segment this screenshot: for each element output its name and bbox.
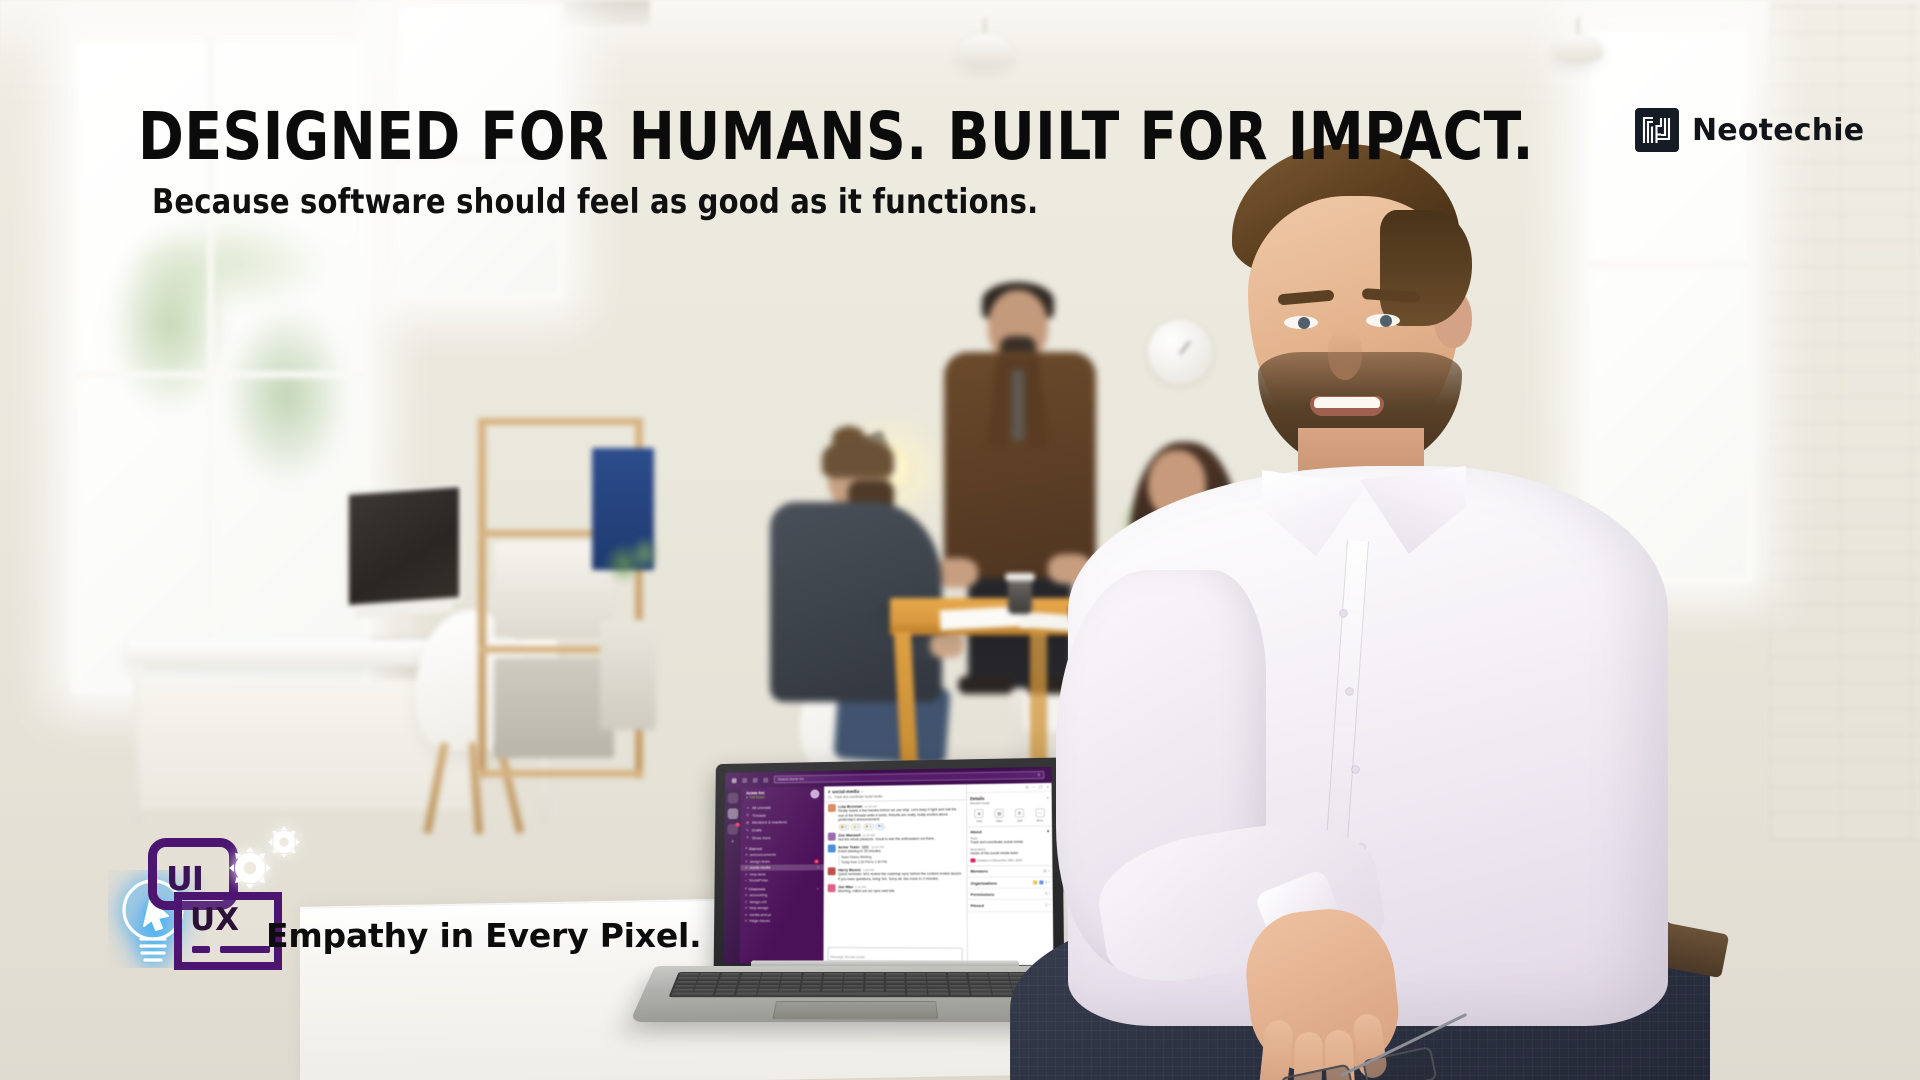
chevron-down-icon: ▾ (745, 846, 746, 850)
tagline: Empathy in Every Pixel. (266, 916, 702, 955)
unreads-icon: ≡ (746, 806, 750, 810)
composer-placeholder: Message #social-media (830, 955, 864, 959)
avatar[interactable] (828, 867, 836, 875)
hash-icon: # (745, 872, 747, 876)
message-item: Harry Boone 1:04 PM Quick reminder: let'… (828, 867, 963, 882)
action-add[interactable]: ⊕ Add (975, 809, 984, 823)
gear-icon (266, 824, 302, 860)
avatar[interactable] (828, 845, 836, 853)
threads-icon: ◎ (746, 813, 750, 817)
laptop-screen: Search Acme Inc ⚲ 1 (723, 767, 1053, 966)
foreground-subject (1010, 140, 1750, 1080)
channel-sidebar: Acme Inc Phill Brown ≡ (740, 787, 824, 965)
search-input[interactable]: Search Acme Inc ⚲ (774, 771, 1045, 784)
hash-icon: # (745, 860, 747, 864)
rail-tile-home[interactable] (728, 808, 739, 819)
trackpad[interactable] (772, 1001, 938, 1019)
mouth (1310, 396, 1384, 416)
clock-icon[interactable] (763, 777, 768, 782)
workspace-rail: 1 + (723, 788, 741, 964)
neotechie-maze-monogram-icon (1635, 108, 1679, 152)
reaction-bar[interactable]: 😀 2 👍 1 🎉 1 ❤ 1 (838, 822, 962, 830)
chat-app: Search Acme Inc ⚲ 1 (723, 767, 1053, 966)
details-subtitle: #social-media (970, 800, 989, 804)
brand-lockup[interactable]: Neotechie (1635, 108, 1864, 152)
channel-triage-issues[interactable]: # triage-issues (740, 918, 824, 924)
rail-tile-workspace[interactable] (728, 793, 739, 804)
avatar[interactable] (828, 804, 836, 812)
foliage-outside (83, 191, 373, 521)
message-text: Quick reminder: let's review the roadmap… (838, 872, 962, 882)
hash-icon: # (745, 900, 747, 904)
calendar-icon (970, 858, 975, 863)
unread-badge: 1 (735, 822, 739, 826)
history-back-icon[interactable] (742, 778, 747, 783)
at-icon: @ (746, 821, 750, 825)
hash-icon: # (745, 906, 747, 910)
pin-icon: ▤ (995, 808, 1004, 817)
draft-icon: ✎ (746, 828, 750, 832)
page-title: DESIGNED FOR HUMANS. BUILT FOR IMPACT. (138, 98, 1534, 175)
pupil (1298, 317, 1310, 329)
shirt-button (1352, 766, 1359, 773)
plant (596, 528, 666, 592)
event-card[interactable]: Team Status Meeting Today from 1:00 PM t… (838, 855, 962, 865)
message-item: Acme Team APP 12:40 PM Event starting in… (828, 844, 963, 865)
chevron-down-icon: ▾ (746, 836, 750, 840)
pendant-lamp (1548, 18, 1608, 76)
pupil (1380, 315, 1392, 327)
sidebar-nav: ≡ All unreads ◎ Threads @ (741, 801, 824, 843)
app-icon: ▪ (745, 879, 746, 883)
hash-icon: # (745, 913, 747, 917)
star-icon[interactable]: ☆ (861, 789, 864, 793)
channel-meta: 21 Track and coordinate social media (828, 793, 962, 799)
add-person-icon: ⊕ (975, 809, 984, 818)
shirt-button (1346, 688, 1353, 695)
member-count[interactable]: 21 (828, 795, 831, 799)
brand-name: Neotechie (1692, 113, 1864, 148)
message-column: # social-media ☆ 21 Track and coordinate… (823, 784, 966, 965)
section-header-channels[interactable]: ▾ Channels + (740, 883, 823, 892)
channel-topic[interactable]: Track and coordinate social media (834, 794, 882, 799)
dash-mark (192, 946, 210, 953)
add-channel-icon[interactable]: + (817, 886, 819, 891)
hash-icon: # (745, 894, 747, 898)
message-text: Morning, rolled out our sync web link. (838, 889, 963, 894)
avatar[interactable] (810, 790, 819, 799)
avatar[interactable] (828, 833, 836, 841)
menu-icon[interactable] (732, 778, 737, 783)
promo-banner: Search Acme Inc ⚲ 1 (0, 0, 1920, 1080)
nose (1328, 330, 1362, 380)
workspace-status: Phill Brown (746, 795, 765, 799)
search-placeholder: Search Acme Inc (778, 777, 804, 781)
message-list[interactable]: Lisa Brennan 11:12 AM Really needs a few… (824, 800, 967, 946)
message-item: Zoe Maxwell 11:24 AM Not the whole pleas… (828, 831, 962, 842)
close-icon[interactable]: × (817, 866, 819, 870)
reaction[interactable]: 🎉 1 (863, 823, 874, 829)
reaction[interactable]: ❤ 1 (875, 823, 885, 829)
storage-bin (600, 620, 656, 730)
reaction[interactable]: 👍 1 (851, 824, 862, 830)
ux-label: UX (190, 902, 239, 938)
dash-mark (220, 946, 270, 953)
rail-tile-dms[interactable]: 1 (727, 824, 738, 835)
unread-count: 6 (814, 859, 819, 863)
message-text: Not the whole pleasure. Great to see the… (838, 836, 962, 842)
shirt-button (1340, 610, 1347, 617)
hash-icon: # (828, 789, 831, 794)
action-files[interactable]: ▤ Files (995, 808, 1004, 822)
message-text: Really needs a few tweaks before we can … (838, 807, 962, 823)
hash-icon: # (745, 866, 747, 870)
avatar[interactable] (828, 884, 836, 892)
hash-icon: # (745, 919, 747, 923)
message-item: Lisa Brennan 11:12 AM Really needs a few… (828, 802, 962, 830)
add-icon[interactable]: + (731, 839, 734, 845)
hash-icon: # (745, 853, 747, 857)
message-item: Joe Max 1:12 PM Morning, rolled out our … (828, 884, 963, 894)
message-text: Event starting in 15 minutes (838, 849, 962, 855)
event-time: Today from 1:00 PM to 1:30 PM (841, 859, 962, 864)
subtitle: Because software should feel as good as … (152, 182, 1038, 222)
reaction[interactable]: 😀 2 (838, 824, 849, 830)
history-forward-icon[interactable] (753, 777, 758, 782)
ui-ux-badge: UI (108, 818, 288, 970)
chevron-down-icon: ▾ (745, 887, 746, 891)
sidebar-item-show-more[interactable]: ▾ Show more (741, 833, 824, 841)
pendant-lamp (955, 18, 1015, 76)
